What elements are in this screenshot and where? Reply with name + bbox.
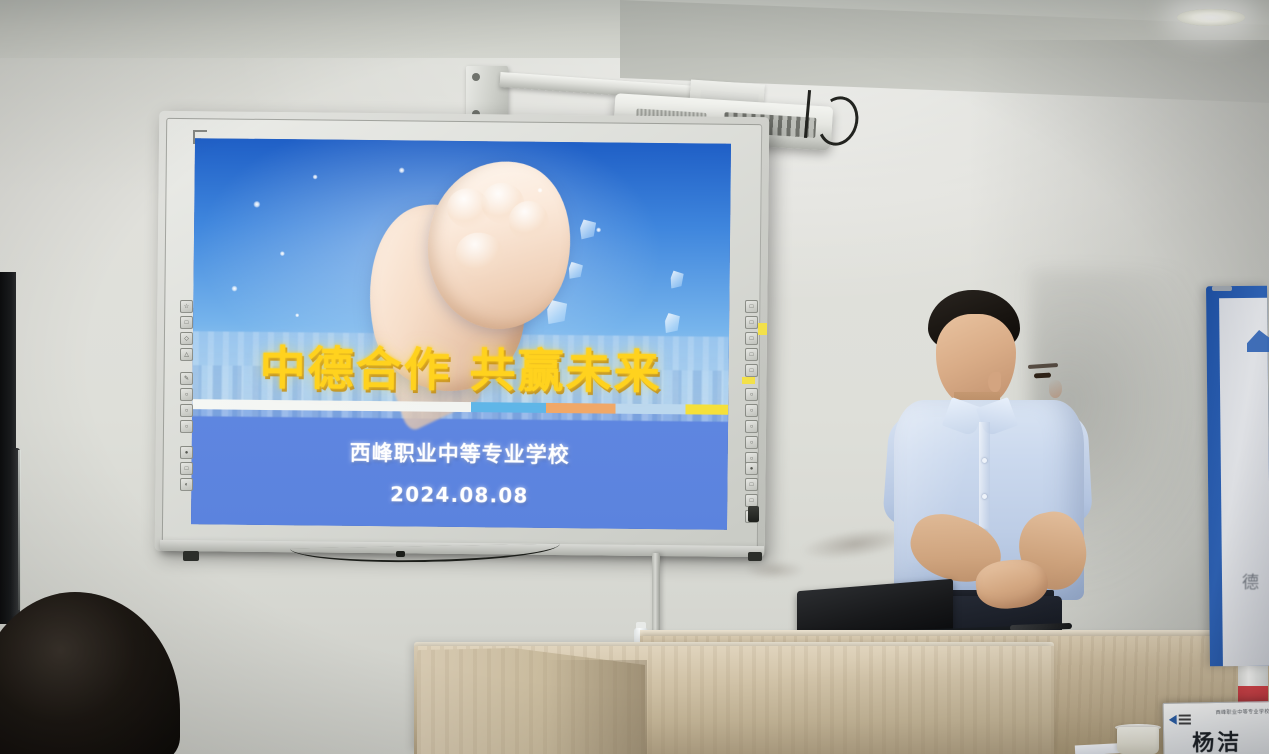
- rollup-banner-text: 德: [1242, 568, 1259, 593]
- whiteboard-left-buttons-group-2[interactable]: ✎ ○ ○ ○: [179, 372, 194, 433]
- whiteboard-button[interactable]: ◇: [180, 332, 193, 345]
- whiteboard-button[interactable]: ○: [180, 420, 193, 433]
- slide-sparkle: [253, 201, 260, 208]
- whiteboard-right-buttons-group-1[interactable]: □ □ □ □ □: [744, 300, 759, 377]
- whiteboard-button[interactable]: ○: [180, 388, 193, 401]
- whiteboard-button[interactable]: ○: [745, 404, 758, 417]
- whiteboard-screen[interactable]: 中德合作 共赢未来 西峰职业中等专业学校 2024.08.08: [191, 138, 731, 530]
- whiteboard-button[interactable]: ○: [745, 388, 758, 401]
- slide-date: 2024.08.08: [191, 480, 727, 510]
- whiteboard-button[interactable]: ☆: [180, 300, 193, 313]
- whiteboard-button[interactable]: ●: [180, 446, 193, 459]
- whiteboard-sticker: [758, 323, 767, 335]
- photo-scene: 中德合作 共赢未来 西峰职业中等专业学校 2024.08.08 ☆ □ ◇ △ …: [0, 0, 1269, 754]
- name-placard: 西峰职业中等专业学校 杨洁: [1163, 701, 1269, 754]
- presenter-eye: [1034, 373, 1051, 379]
- whiteboard-button[interactable]: ○: [745, 436, 758, 449]
- whiteboard-button[interactable]: ●: [745, 462, 758, 475]
- presenter-shirt-button: [982, 494, 987, 499]
- podium-shadow: [545, 660, 647, 754]
- slide-sparkle: [398, 167, 404, 173]
- presenter-ear: [988, 372, 1001, 392]
- logo-bars-icon: [1179, 714, 1191, 724]
- whiteboard-button[interactable]: □: [745, 332, 758, 345]
- whiteboard-button[interactable]: □: [745, 316, 758, 329]
- whiteboard-button[interactable]: □: [745, 348, 758, 361]
- whiteboard-button[interactable]: □: [745, 364, 758, 377]
- whiteboard-button[interactable]: △: [180, 348, 193, 361]
- presentation-slide: 中德合作 共赢未来 西峰职业中等专业学校 2024.08.08: [191, 138, 731, 530]
- cable-clip: [396, 551, 405, 557]
- whiteboard-button[interactable]: □: [745, 300, 758, 313]
- slide-sparkle: [231, 285, 237, 291]
- wall-scuff-mark-secondary: [745, 560, 805, 580]
- whiteboard-button[interactable]: □: [180, 316, 193, 329]
- whiteboard-sticker-inner: [742, 377, 755, 384]
- whiteboard-ir-sensor-icon: [748, 506, 759, 522]
- presenter-shirt-button: [982, 458, 987, 463]
- ceiling-light-icon: [1177, 9, 1245, 26]
- presenter-nose: [1049, 380, 1062, 398]
- whiteboard-corner-marker: [193, 130, 207, 144]
- whiteboard-button[interactable]: □: [745, 478, 758, 491]
- placard-organization: 西峰职业中等专业学校: [1216, 708, 1269, 716]
- placard-name-text: 杨洁: [1164, 724, 1269, 754]
- rollup-banner-face: [1219, 298, 1269, 666]
- whiteboard-button[interactable]: ✎: [180, 372, 193, 385]
- whiteboard-button[interactable]: ◐: [180, 478, 193, 491]
- whiteboard-mount-right: [748, 552, 762, 561]
- slide-sparkle: [280, 251, 285, 256]
- whiteboard-mount-left: [183, 551, 199, 561]
- slide-sparkle: [596, 227, 601, 232]
- whiteboard-button[interactable]: □: [180, 462, 193, 475]
- left-panel-highlight: [18, 450, 21, 610]
- slide-sparkle: [313, 174, 318, 179]
- presenter-eyebrow: [1028, 363, 1058, 369]
- slide-sparkle: [295, 313, 299, 317]
- whiteboard-button[interactable]: ○: [745, 420, 758, 433]
- whiteboard-left-buttons-group-3[interactable]: ● □ ◐: [179, 446, 194, 491]
- slide-title: 中德合作 共赢未来: [192, 331, 729, 403]
- rollup-banner-hook: [1212, 286, 1232, 291]
- logo-arrow-icon: [1169, 715, 1177, 725]
- paper-cup[interactable]: [1117, 727, 1159, 754]
- whiteboard-left-buttons-group-1[interactable]: ☆ □ ◇ △: [179, 300, 194, 361]
- whiteboard-button[interactable]: ○: [180, 404, 193, 417]
- interactive-whiteboard[interactable]: 中德合作 共赢未来 西峰职业中等专业学校 2024.08.08: [155, 111, 770, 557]
- slide-subtitle: 西峰职业中等专业学校: [192, 435, 728, 471]
- whiteboard-right-buttons-group-2[interactable]: ○ ○ ○ ○ ○: [744, 388, 759, 465]
